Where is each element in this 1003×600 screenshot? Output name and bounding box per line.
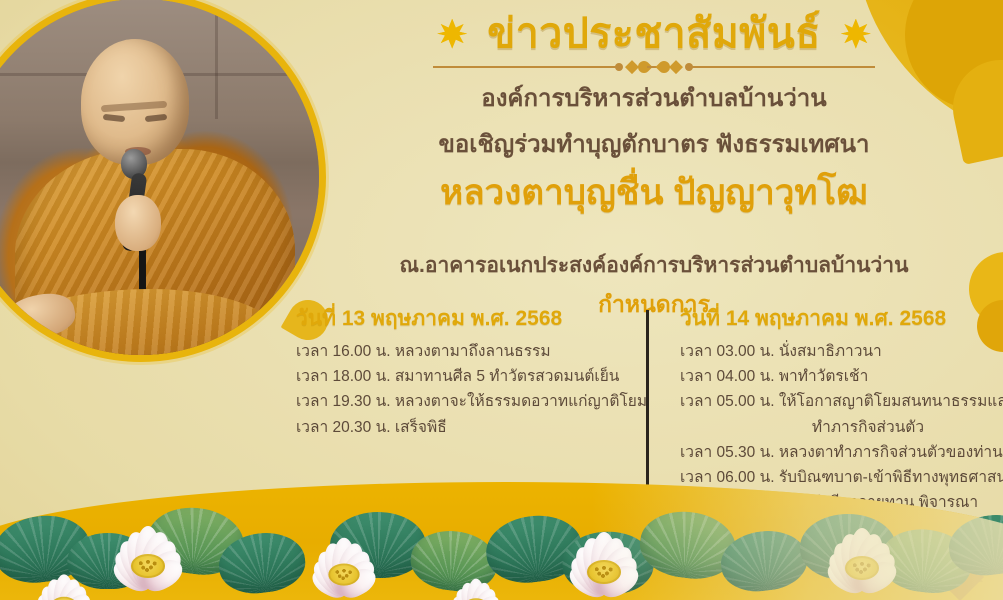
divider-diamond-right-icon: [669, 60, 683, 74]
divider-line-left: [433, 66, 618, 68]
schedule-item: เวลา 06.00 น. รับบิณฑบาต-เข้าพิธีทางพุทธ…: [680, 465, 1003, 490]
monk-hand-holding-mic: [115, 195, 161, 251]
monk-name: หลวงตาบุญชื่น ปัญญาวุทโฒ: [318, 171, 990, 215]
schedule-item: เวลา 03.00 น. นั่งสมาธิภาวนา: [680, 339, 1003, 364]
schedule-item: เวลา 04.00 น. พาทำวัตรเช้า: [680, 364, 1003, 389]
schedule-item: เวลา 20.30 น. เสร็จพิธี: [296, 415, 646, 440]
title-row: ข่าวประชาสัมพันธ์: [318, 10, 990, 57]
organization-name: องค์การบริหารส่วนตำบลบ้านว่าน: [318, 81, 990, 117]
wall-seam-vertical: [215, 0, 218, 119]
schedule-item: ทำภารกิจส่วนตัว: [680, 415, 1003, 440]
schedule-item: เวลา 19.30 น. หลวงตาจะให้ธรรมดอวาทแก่ญาต…: [296, 389, 646, 414]
band-fade-overlay: [0, 482, 1003, 600]
day2-title: วันที่ 14 พฤษภาคม พ.ศ. 2568: [680, 306, 1003, 331]
flower-ornament-right-icon: [839, 17, 873, 51]
day1-title: วันที่ 13 พฤษภาคม พ.ศ. 2568: [296, 306, 646, 331]
header-block: ข่าวประชาสัมพันธ์ องค์การบริหารส่วนตำบลบ…: [318, 10, 990, 346]
venue-text: ณ.อาคารอเนกประสงค์องค์การบริหารส่วนตำบลบ…: [318, 250, 990, 282]
monk-portrait: [0, 0, 326, 362]
poster-canvas: ข่าวประชาสัมพันธ์ องค์การบริหารส่วนตำบลบ…: [0, 0, 1003, 600]
day1-item-list: เวลา 16.00 น. หลวงตามาถึงลานธรรมเวลา 18.…: [296, 339, 646, 439]
schedule-item: เวลา 05.00 น. ให้โอกาสญาติโยมสนทนาธรรมแล…: [680, 389, 1003, 414]
schedule-item: เวลา 18.00 น. สมาทานศีล 5 ทำวัตรสวดมนต์เ…: [296, 364, 646, 389]
schedule-item: เวลา 05.30 น. หลวงตาทำภารกิจส่วนตัวของท่…: [680, 440, 1003, 465]
column-divider: [646, 310, 649, 502]
invitation-text: ขอเชิญร่วมทำบุญตักบาตร ฟังธรรมเทศนา: [318, 127, 990, 163]
divider-dot-left-icon: [615, 63, 623, 71]
ornamental-divider: [419, 59, 889, 75]
divider-line-right: [690, 66, 875, 68]
monk-photo-image: [0, 0, 319, 355]
page-title: ข่าวประชาสัมพันธ์: [487, 10, 821, 57]
schedule-item: เวลา 16.00 น. หลวงตามาถึงลานธรรม: [296, 339, 646, 364]
flower-ornament-left-icon: [435, 17, 469, 51]
